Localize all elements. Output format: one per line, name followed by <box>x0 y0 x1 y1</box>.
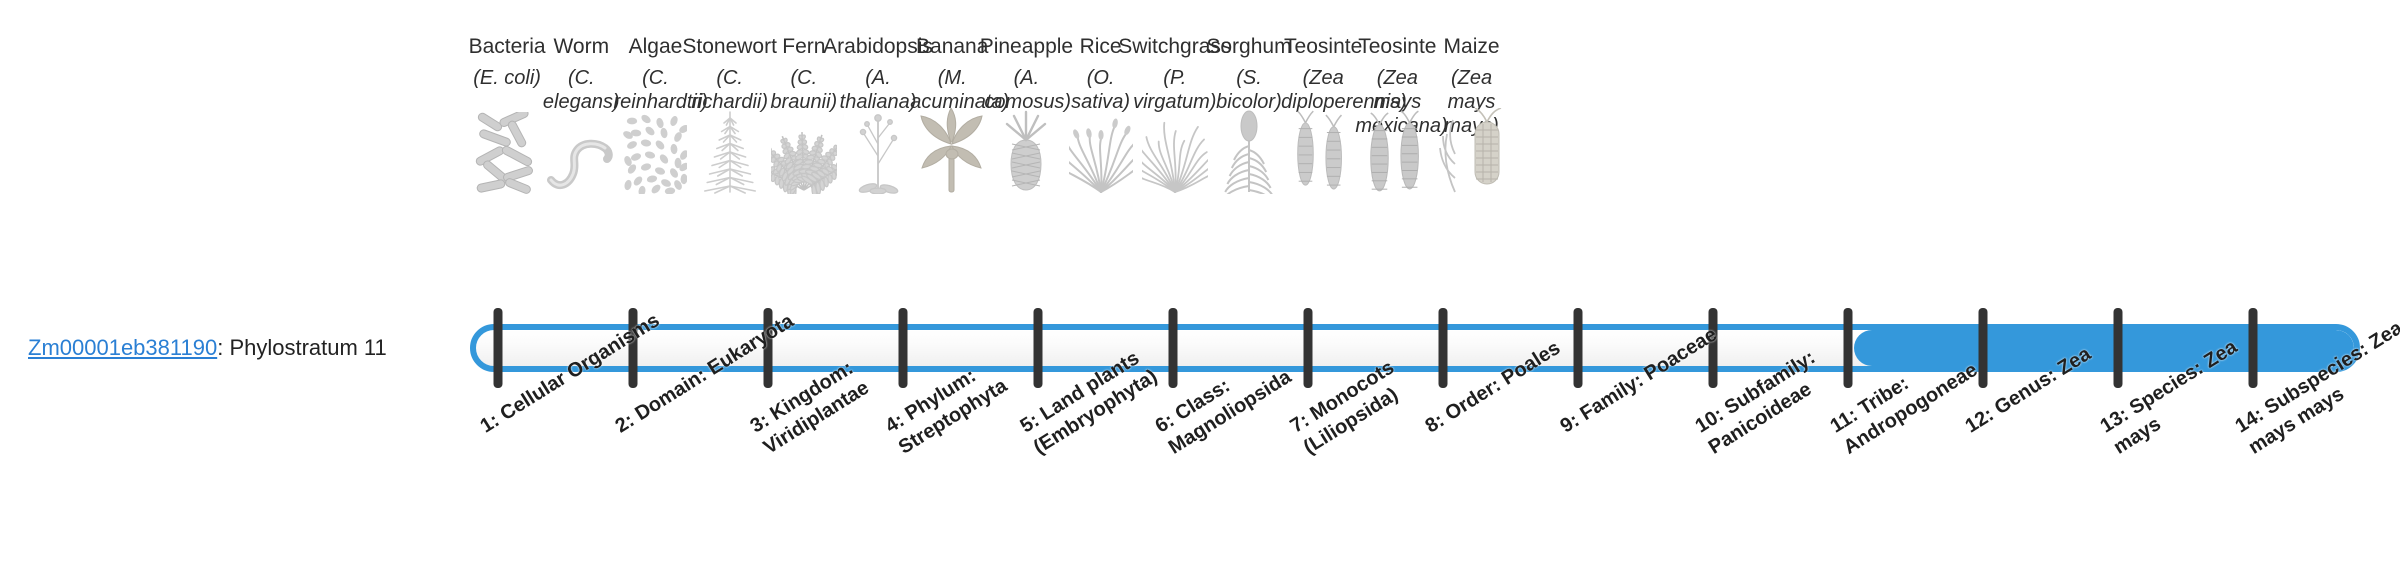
banana-icon <box>916 108 988 194</box>
fern-icon <box>768 108 840 194</box>
gene-label-separator: : <box>217 335 229 360</box>
species-latin-name: (P. virgatum) <box>1133 66 1216 114</box>
rice-icon <box>1065 108 1137 194</box>
species-column: Worm(C. elegans) <box>544 34 618 204</box>
stonewort-icon <box>694 108 766 194</box>
species-latin-name: (C. braunii) <box>767 66 841 114</box>
species-common-name: Sorghum <box>1206 34 1291 60</box>
species-column: Maize(Zea mays mays) <box>1434 34 1508 204</box>
phylostratum-figure: Bacteria(E. coli)Worm(C. elegans)Algae(C… <box>0 0 2400 580</box>
teosinte-mexicana-icon <box>1361 108 1433 194</box>
species-latin-name: (C. reinhardtii) <box>613 66 697 114</box>
species-common-name: Stonewort <box>682 34 777 60</box>
teosinte-diplo-icon <box>1287 108 1359 194</box>
species-common-name: Rice <box>1080 34 1122 60</box>
algae-icon <box>619 108 691 194</box>
gene-label: Zm00001eb381190: Phylostratum 11 <box>28 333 387 363</box>
species-latin-name: (C. elegans) <box>543 66 620 114</box>
worm-icon <box>545 108 617 194</box>
species-column: Stonewort(C. richardii) <box>693 34 767 204</box>
species-latin-name: (M. acuminata) <box>910 66 994 114</box>
sorghum-icon <box>1213 108 1285 194</box>
species-column: Arabidopsis(A. thaliana) <box>841 34 915 204</box>
species-column: Banana(M. acuminata) <box>915 34 989 204</box>
species-common-name: Teosinte <box>1358 34 1436 60</box>
species-column: Pineapple(A. comosus) <box>989 34 1063 204</box>
species-column: Switchgrass(P. virgatum) <box>1138 34 1212 204</box>
species-header-row: Bacteria(E. coli)Worm(C. elegans)Algae(C… <box>470 34 2360 204</box>
switchgrass-icon <box>1139 108 1211 194</box>
species-column: Bacteria(E. coli) <box>470 34 544 204</box>
species-latin-name: (S. bicolor) <box>1212 66 1286 114</box>
species-column: Sorghum(S. bicolor) <box>1212 34 1286 204</box>
species-latin-name: (C. richardii) <box>691 66 768 114</box>
species-common-name: Maize <box>1444 34 1500 60</box>
species-latin-name: (E. coli) <box>473 66 541 90</box>
species-common-name: Teosinte <box>1284 34 1362 60</box>
bacteria-icon <box>471 108 543 194</box>
species-latin-name: (A. comosus) <box>984 66 1068 114</box>
species-common-name: Pineapple <box>980 34 1073 60</box>
species-common-name: Algae <box>629 34 683 60</box>
species-common-name: Fern <box>782 34 825 60</box>
phylostratum-value: Phylostratum 11 <box>229 335 386 360</box>
maize-icon <box>1436 108 1508 194</box>
arabidopsis-icon <box>842 108 914 194</box>
species-common-name: Banana <box>916 34 988 60</box>
species-latin-name: (O. sativa) <box>1064 66 1138 114</box>
gene-id-link[interactable]: Zm00001eb381190 <box>28 335 217 360</box>
species-column: Teosinte(Zea diploperennis) <box>1286 34 1360 204</box>
pineapple-icon <box>990 108 1062 194</box>
species-common-name: Worm <box>553 34 609 60</box>
species-column: Teosinte(Zea mays mexicana) <box>1360 34 1434 204</box>
species-common-name: Bacteria <box>469 34 546 60</box>
species-latin-name: (Zea diploperennis) <box>1281 66 1365 114</box>
stratum-tick[interactable] <box>494 308 503 388</box>
species-latin-name: (A. thaliana) <box>840 66 917 114</box>
